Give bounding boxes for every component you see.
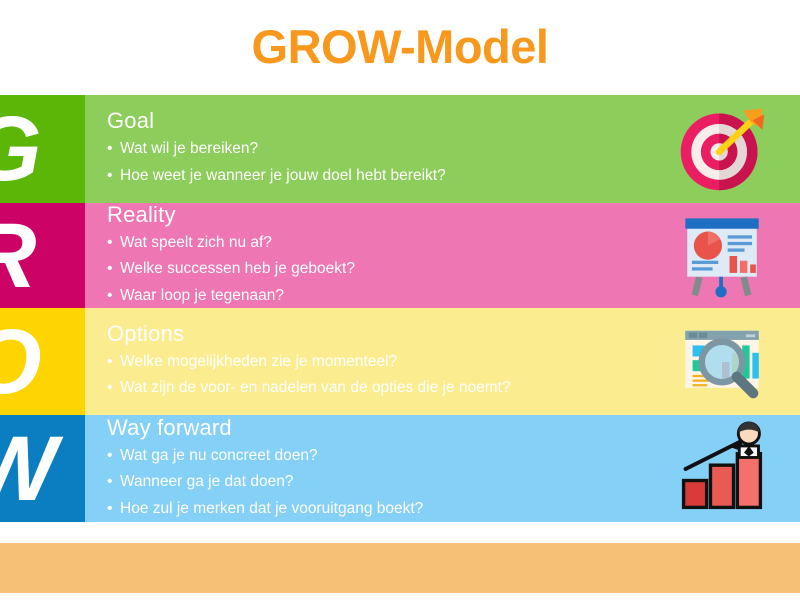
row-heading-options: Options	[107, 321, 800, 347]
grow-rows-container: G Goal Wat wil je bereiken? Hoe weet je …	[0, 95, 800, 522]
letter-block-r: R	[0, 203, 85, 308]
row-content-options: Options Welke mogelijkheden zie je momen…	[85, 308, 800, 415]
letter-glyph-w: W	[0, 423, 57, 515]
letter-glyph-g: G	[0, 103, 42, 195]
bullet-list-goal: Wat wil je bereiken? Hoe weet je wanneer…	[107, 136, 800, 189]
letter-block-o: O	[0, 308, 85, 415]
list-item: Wat ga je nu concreet doen?	[107, 443, 800, 470]
letter-glyph-r: R	[0, 210, 36, 302]
row-content-goal: Goal Wat wil je bereiken? Hoe weet je wa…	[85, 95, 800, 203]
letter-glyph-o: O	[0, 316, 42, 408]
list-item: Welke successen heb je geboekt?	[107, 256, 800, 283]
row-heading-way-forward: Way forward	[107, 415, 800, 441]
list-item: Waar loop je tegenaan?	[107, 283, 800, 310]
list-item: Hoe zul je merken dat je vooruitgang boe…	[107, 496, 800, 523]
row-content-reality: Reality Wat speelt zich nu af? Welke suc…	[85, 203, 800, 308]
bullet-list-way-forward: Wat ga je nu concreet doen? Wanneer ga j…	[107, 443, 800, 523]
grow-row-goal[interactable]: G Goal Wat wil je bereiken? Hoe weet je …	[0, 95, 800, 203]
row-heading-goal: Goal	[107, 108, 800, 134]
grow-model-slide: GROW-Model G Goal Wat wil je bereiken? H…	[0, 0, 800, 600]
row-heading-reality: Reality	[107, 202, 800, 228]
letter-block-g: G	[0, 95, 85, 203]
grow-row-options[interactable]: O Options Welke mogelijkheden zie je mom…	[0, 308, 800, 415]
bottom-accent-strip: !	[0, 543, 800, 593]
letter-block-w: W	[0, 415, 85, 522]
list-item: Hoe weet je wanneer je jouw doel hebt be…	[107, 163, 800, 190]
grow-row-way-forward[interactable]: W Way forward Wat ga je nu concreet doen…	[0, 415, 800, 522]
list-item: Wat zijn de voor- en nadelen van de opti…	[107, 375, 800, 402]
bullet-list-options: Welke mogelijkheden zie je momenteel? Wa…	[107, 349, 800, 402]
slide-title-bar: GROW-Model	[0, 0, 800, 92]
list-item: Wanneer ga je dat doen?	[107, 469, 800, 496]
row-content-way-forward: Way forward Wat ga je nu concreet doen? …	[85, 415, 800, 522]
list-item: Wat wil je bereiken?	[107, 136, 800, 163]
list-item: Welke mogelijkheden zie je momenteel?	[107, 349, 800, 376]
list-item: Wat speelt zich nu af?	[107, 230, 800, 257]
grow-row-reality[interactable]: R Reality Wat speelt zich nu af? Welke s…	[0, 203, 800, 308]
bullet-list-reality: Wat speelt zich nu af? Welke successen h…	[107, 230, 800, 310]
page-title: GROW-Model	[252, 23, 549, 70]
